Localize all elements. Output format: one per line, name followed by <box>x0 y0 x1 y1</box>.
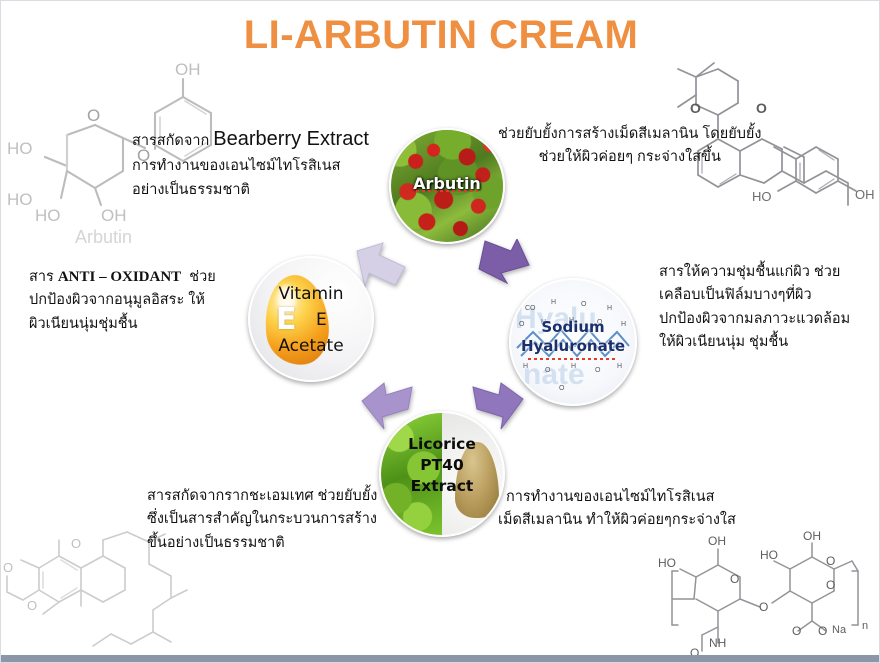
bottom-accent-bar <box>1 655 880 662</box>
callout-licorice-line2: ซึ่งเป็นสารสำคัญในกระบวนการสร้าง <box>147 508 377 531</box>
svg-text:CO: CO <box>525 305 536 312</box>
callout-licorice: สารสกัดจากรากชะเอมเทศ ช่วยยับยั้ง ซึ่งเป… <box>147 485 377 555</box>
circle-hyaluronate-label-2: Hyaluronate <box>511 337 635 355</box>
hyaluronate-label-underline <box>528 358 617 360</box>
svg-text:O: O <box>27 598 37 613</box>
callout-hyaluronate-line3: ปกป้องผิวจากมลภาวะแวดล้อม <box>659 308 850 331</box>
arbutin-structure-caption: Arbutin <box>75 227 132 247</box>
svg-text:O: O <box>71 536 81 551</box>
callout-vitamin-e-line1-post: ช่วย <box>189 269 215 285</box>
callout-licorice-effect-line1: การทำงานของเอนไซม์ไทโรสิเนส <box>506 486 736 509</box>
callout-hyaluronate-line2: เคลือบเป็นฟิล์มบางๆที่ผิว <box>659 284 850 307</box>
svg-text:O: O <box>3 560 13 575</box>
callout-vitamin-e: สาร ANTI – OXIDANT ช่วย ปกป้องผิวจากอนุม… <box>29 265 216 336</box>
svg-text:HO: HO <box>7 190 33 209</box>
arbutin-label-underline <box>416 190 479 192</box>
svg-text:HO: HO <box>752 189 772 204</box>
callout-licorice-line1: สารสกัดจากรากชะเอมเทศ ช่วยยับยั้ง <box>147 485 377 508</box>
svg-text:O: O <box>792 624 801 638</box>
callout-arbutin-effect: ช่วยยับยั้งการสร้างเม็ดสีเมลานิน โดยยับย… <box>498 123 761 170</box>
svg-text:HO: HO <box>35 206 61 225</box>
svg-text:OH: OH <box>175 60 201 79</box>
circle-vitamin-e[interactable]: Vitamin E E Acetate <box>248 256 374 382</box>
callout-hyaluronate-line1: สารให้ความชุ่มชื้นแก่ผิว ช่วย <box>659 261 850 284</box>
svg-text:HO: HO <box>760 548 778 562</box>
callout-vitamin-e-line2: ปกป้องผิวจากอนุมูลอิสระ ให้ <box>29 289 216 312</box>
callout-arbutin-effect-line1: ช่วยยับยั้งการสร้างเม็ดสีเมลานิน โดยยับย… <box>498 123 761 146</box>
svg-text:H: H <box>571 363 576 370</box>
callout-vitamin-e-line3: ผิวเนียนนุ่มชุ่มชื้น <box>29 313 216 336</box>
callout-vitamin-e-line1-latin: ANTI – OXIDANT <box>58 269 181 285</box>
svg-text:n: n <box>862 620 868 632</box>
callout-licorice-effect: การทำงานของเอนไซม์ไทโรสิเนส เม็ดสีเมลานิ… <box>506 486 736 533</box>
callout-bearberry-line1-thai: สารสกัดจาก <box>132 133 209 149</box>
svg-text:O: O <box>581 301 587 308</box>
callout-hyaluronate: สารให้ความชุ่มชื้นแก่ผิว ช่วย เคลือบเป็น… <box>659 261 850 355</box>
svg-text:O: O <box>559 385 565 392</box>
callout-bearberry-line2: การทำงานของเอนไซม์ไทโรสิเนส <box>132 155 369 178</box>
svg-text:H: H <box>551 299 556 306</box>
callout-licorice-line3: ขึ้นอย่างเป็นธรรมชาติ <box>147 532 377 555</box>
svg-text:OH: OH <box>855 187 875 202</box>
svg-text:H: H <box>607 305 612 312</box>
circle-licorice-label-2: PT40 <box>381 456 503 475</box>
svg-text:O: O <box>730 572 739 586</box>
svg-text:O: O <box>818 624 827 638</box>
circle-vitamin-e-label-2: Acetate <box>250 336 372 357</box>
svg-text:O: O <box>756 100 767 116</box>
svg-text:NH: NH <box>709 636 726 650</box>
svg-text:O: O <box>595 367 601 374</box>
svg-text:HO: HO <box>658 556 676 570</box>
circle-arbutin[interactable]: Arbutin <box>389 128 505 244</box>
svg-text:OH: OH <box>101 206 127 225</box>
svg-text:Na: Na <box>832 624 847 636</box>
callout-vitamin-e-line1-pre: สาร <box>29 269 54 285</box>
svg-text:O: O <box>545 367 551 374</box>
svg-text:OH: OH <box>708 534 726 548</box>
callout-bearberry: สารสกัดจาก Bearberry Extract การทำงานของ… <box>132 123 369 202</box>
circle-vitamin-e-label-big: E <box>276 302 297 337</box>
svg-text:OH: OH <box>803 529 821 543</box>
callout-bearberry-line1-latin: Bearberry Extract <box>213 128 369 150</box>
circle-vitamin-e-label-small: E <box>316 310 327 330</box>
callout-arbutin-effect-line2: ช่วยให้ผิวค่อยๆ กระจ่างใสขึ้น <box>498 146 761 169</box>
svg-text:O: O <box>87 106 100 125</box>
svg-text:HO: HO <box>7 139 33 158</box>
slide-canvas: LI-ARBUTIN CREAM <box>0 0 880 663</box>
circle-hyaluronate-label-1: Sodium <box>511 318 635 336</box>
svg-text:H: H <box>523 363 528 370</box>
circle-licorice[interactable]: Licorice PT40 Extract <box>379 411 505 537</box>
circle-sodium-hyaluronate[interactable]: Hyalu nate COHO HOH HOH HOH OHO Sodium H… <box>509 278 637 406</box>
svg-text:O: O <box>759 600 768 614</box>
circle-vitamin-e-label-1: Vitamin <box>250 284 372 305</box>
circle-licorice-label-3: Extract <box>381 477 503 496</box>
svg-text:O: O <box>826 554 835 568</box>
callout-licorice-effect-line2: เม็ดสีเมลานิน ทำให้ผิวค่อยๆกระจ่างใส <box>498 509 736 532</box>
svg-text:O: O <box>826 578 835 592</box>
svg-text:O: O <box>690 100 701 116</box>
svg-text:H: H <box>617 363 622 370</box>
sodium-hyaluronate-structure-graphic: OH HO OH HO O O O O NH O O O Na n <box>656 529 878 657</box>
circle-licorice-label-1: Licorice <box>381 435 503 454</box>
callout-bearberry-line3: อย่างเป็นธรรมชาติ <box>132 179 369 202</box>
callout-hyaluronate-line4: ให้ผิวเนียนนุ่ม ชุ่มชื้น <box>659 331 850 354</box>
